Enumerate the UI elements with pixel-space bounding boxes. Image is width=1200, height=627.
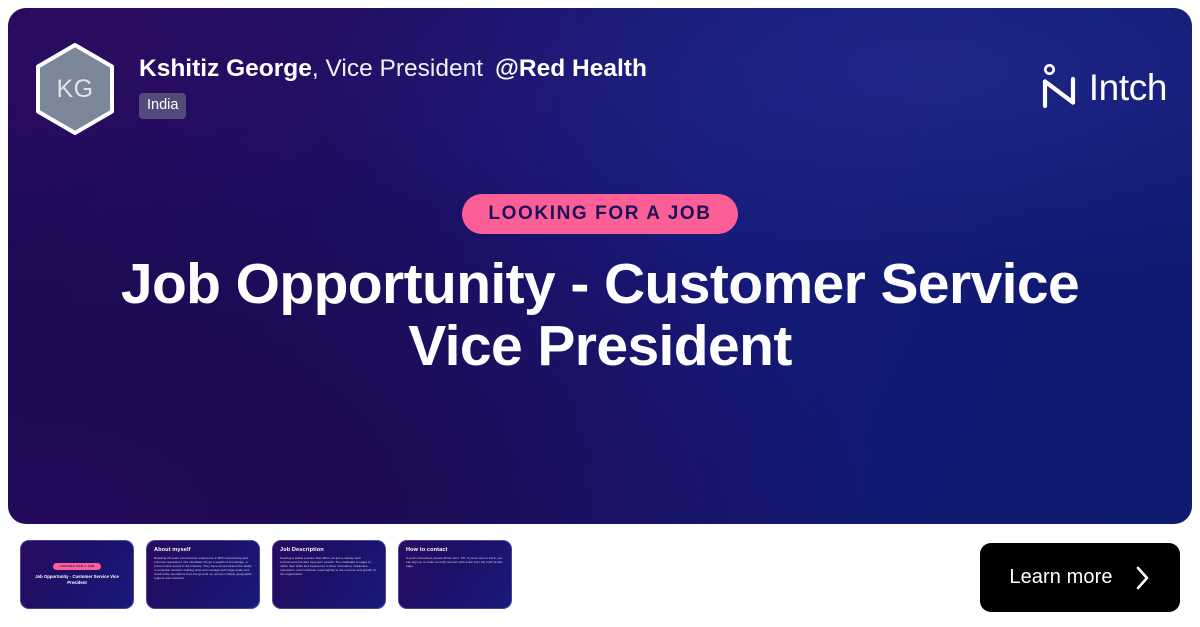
thumbnail-body: Boasting 20 years of immersive experienc… <box>154 556 252 581</box>
thumbnail-title: How to contact <box>406 547 504 554</box>
brand-logo: Intch <box>1040 40 1167 110</box>
thumbnail-how-to-contact[interactable]: How to contact If you're interested, ple… <box>398 540 512 609</box>
thumbnail-content: About myself Boasting 20 years of immers… <box>147 541 259 608</box>
thumbnail-status-badge: LOOKING FOR A JOB <box>53 563 102 570</box>
chevron-right-icon <box>1135 565 1151 591</box>
thumbnail-content: How to contact If you're interested, ple… <box>399 541 511 608</box>
hero-card: KG Kshitiz George, Vice President@Red He… <box>8 8 1192 524</box>
thumbnail-about-myself[interactable]: About myself Boasting 20 years of immers… <box>146 540 260 609</box>
thumbnail-list: LOOKING FOR A JOB Job Opportunity - Cust… <box>20 540 512 609</box>
thumbnail-content: Job Description Seeking a stable positio… <box>273 541 385 608</box>
intch-n-mark-icon <box>1040 64 1078 110</box>
bottom-bar: LOOKING FOR A JOB Job Opportunity - Cust… <box>0 532 1200 627</box>
avatar: KG <box>33 42 117 136</box>
status-badge: LOOKING FOR A JOB <box>462 194 737 234</box>
thumbnail-job-description[interactable]: Job Description Seeking a stable positio… <box>272 540 386 609</box>
thumbnail-slide-content: LOOKING FOR A JOB Job Opportunity - Cust… <box>21 541 133 608</box>
thumbnail-title: Job Description <box>280 547 378 554</box>
learn-more-label: Learn more <box>1009 566 1112 589</box>
thumbnail-title: About myself <box>154 547 252 554</box>
thumbnail-body: If you're interested, please fill the fo… <box>406 556 504 568</box>
profile-headline: Kshitiz George, Vice President@Red Healt… <box>139 54 647 84</box>
thumbnail-body: Seeking a stable position that offers no… <box>280 556 378 576</box>
profile-country-chip: India <box>139 93 186 119</box>
thumbnail-slide-preview[interactable]: LOOKING FOR A JOB Job Opportunity - Cust… <box>20 540 134 609</box>
page-title: Job Opportunity - Customer Service Vice … <box>100 253 1100 377</box>
thumbnail-slide-title: Job Opportunity - Customer Service Vice … <box>21 574 133 586</box>
brand-name: Intch <box>1089 69 1167 106</box>
profile-company: @Red Health <box>495 55 647 82</box>
profile-identity: Kshitiz George, Vice President@Red Healt… <box>139 40 647 119</box>
learn-more-button[interactable]: Learn more <box>980 543 1180 612</box>
profile-role: , Vice President <box>312 55 483 82</box>
avatar-initials: KG <box>33 42 117 136</box>
profile-name: Kshitiz George <box>139 55 312 82</box>
header: KG Kshitiz George, Vice President@Red He… <box>33 40 1167 140</box>
hero-content: LOOKING FOR A JOB Job Opportunity - Cust… <box>8 194 1192 377</box>
